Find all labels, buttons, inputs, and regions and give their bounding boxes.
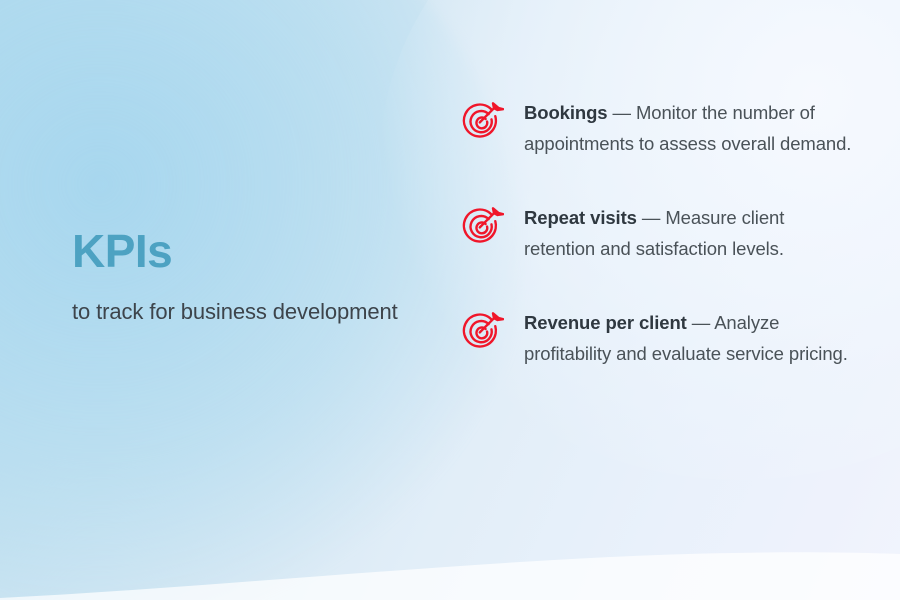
list-item: Repeat visits — Measure client retention… (456, 201, 860, 264)
list-item-text: Repeat visits — Measure client retention… (524, 201, 860, 264)
list-item: Revenue per client — Analyze profitabili… (456, 306, 860, 369)
page-title: KPIs (72, 228, 402, 274)
background-wave-decoration (0, 512, 900, 600)
list-item-separator: — (607, 102, 635, 123)
list-item-term: Bookings (524, 102, 607, 123)
page-subtitle: to track for business development (72, 296, 402, 328)
list-item-text: Revenue per client — Analyze profitabili… (524, 306, 860, 369)
target-arrow-icon (456, 308, 504, 356)
target-arrow-icon (456, 98, 504, 146)
list-item-separator: — (637, 207, 665, 228)
headline-block: KPIs to track for business development (72, 228, 402, 328)
list-item: Bookings — Monitor the number of appoint… (456, 96, 860, 159)
list-item-term: Revenue per client (524, 312, 687, 333)
list-item-text: Bookings — Monitor the number of appoint… (524, 96, 860, 159)
list-item-term: Repeat visits (524, 207, 637, 228)
kpi-list: Bookings — Monitor the number of appoint… (456, 96, 860, 369)
list-item-separator: — (687, 312, 714, 333)
slide-canvas: KPIs to track for business development B… (0, 0, 900, 600)
target-arrow-icon (456, 203, 504, 251)
